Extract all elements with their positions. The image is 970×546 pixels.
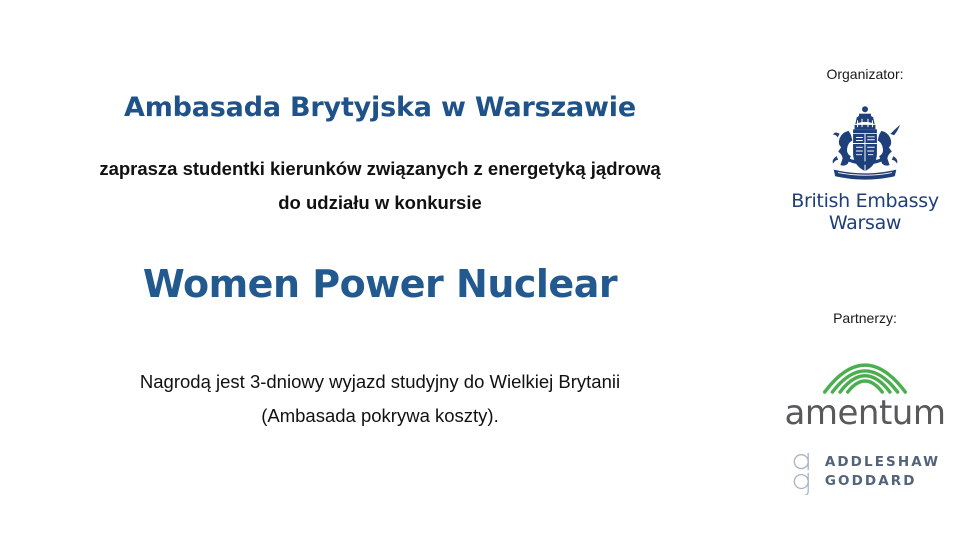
invitation-line-1: zaprasza studentki kierunków związanych …	[40, 152, 720, 186]
logo-column: Organizator:	[760, 0, 970, 546]
organizer-label: Organizator:	[760, 66, 970, 82]
prize-line-1: Nagrodą jest 3-dniowy wyjazd studyjny do…	[40, 365, 720, 399]
british-embassy-wordmark: British Embassy Warsaw	[760, 190, 970, 234]
invitation-line-2: do udziału w konkursie	[40, 186, 720, 220]
addleshaw-line: ADDLESHAW	[825, 453, 940, 472]
poster-slide: Ambasada Brytyjska w Warszawie zaprasza …	[0, 0, 970, 546]
addleshaw-goddard-wordmark: ADDLESHAW GODDARD	[825, 453, 940, 491]
invitation-text: zaprasza studentki kierunków związanych …	[40, 152, 720, 220]
amentum-wordmark: amentum	[760, 394, 970, 432]
addleshaw-goddard-logo: ADDLESHAW GODDARD	[760, 449, 970, 495]
competition-title: Women Power Nuclear	[0, 262, 760, 306]
embassy-name-line-1: British Embassy	[760, 190, 970, 212]
partners-label: Partnerzy:	[760, 310, 970, 326]
goddard-line: GODDARD	[825, 472, 940, 491]
amentum-arc-mark-icon	[817, 342, 913, 396]
content-column: Ambasada Brytyjska w Warszawie zaprasza …	[0, 0, 760, 546]
amentum-logo: amentum	[760, 342, 970, 432]
prize-line-2: (Ambasada pokrywa koszty).	[40, 399, 720, 433]
british-embassy-logo: British Embassy Warsaw	[760, 104, 970, 234]
addleshaw-goddard-ag-monogram-icon	[790, 449, 816, 495]
british-royal-coat-of-arms-icon	[820, 104, 910, 186]
page-title: Ambasada Brytyjska w Warszawie	[0, 92, 760, 123]
embassy-name-line-2: Warsaw	[760, 212, 970, 234]
prize-text: Nagrodą jest 3-dniowy wyjazd studyjny do…	[40, 365, 720, 433]
